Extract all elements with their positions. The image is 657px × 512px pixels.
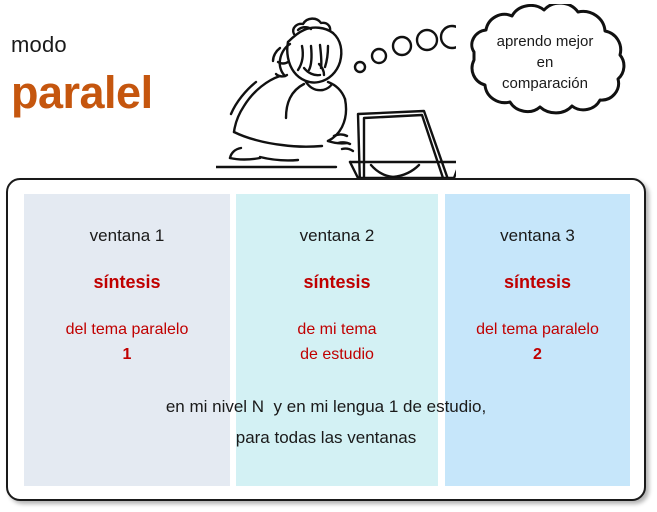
mode-label: modo (11, 32, 67, 58)
thought-bubble-line-1: aprendo mejor (455, 31, 635, 52)
window-column-3-heading: síntesis (445, 270, 630, 294)
window-column-2[interactable]: ventana 2 síntesis de mi tema de estudio (236, 194, 438, 486)
window-column-3-body-line-1: del tema paralelo (445, 317, 630, 342)
thought-bubble-line-2: en (455, 52, 635, 73)
mode-name-title: paralel (11, 68, 153, 118)
window-column-2-heading: síntesis (236, 270, 438, 294)
window-column-1[interactable]: ventana 1 síntesis del tema paralelo 1 (24, 194, 230, 486)
window-column-3-body-line-2: 2 (445, 342, 630, 367)
window-column-1-title: ventana 1 (24, 225, 230, 247)
window-column-2-body-line-2: de estudio (236, 342, 438, 367)
window-column-3[interactable]: ventana 3 síntesis del tema paralelo 2 (445, 194, 630, 486)
window-column-1-heading: síntesis (24, 270, 230, 294)
window-column-2-title: ventana 2 (236, 225, 438, 247)
header: modo paralel (0, 0, 657, 178)
windows-panel: ventana 1 síntesis del tema paralelo 1 v… (6, 178, 646, 501)
window-column-2-body: de mi tema de estudio (236, 317, 438, 367)
window-column-1-body-line-1: del tema paralelo (24, 317, 230, 342)
student-at-laptop-icon (216, 2, 456, 178)
thought-bubble-text: aprendo mejor en comparación (455, 31, 635, 94)
window-column-3-title: ventana 3 (445, 225, 630, 247)
window-column-1-body: del tema paralelo 1 (24, 317, 230, 367)
thought-bubble-line-3: comparación (455, 73, 635, 94)
window-column-3-body: del tema paralelo 2 (445, 317, 630, 367)
window-column-2-body-line-1: de mi tema (236, 317, 438, 342)
window-column-1-body-line-2: 1 (24, 342, 230, 367)
